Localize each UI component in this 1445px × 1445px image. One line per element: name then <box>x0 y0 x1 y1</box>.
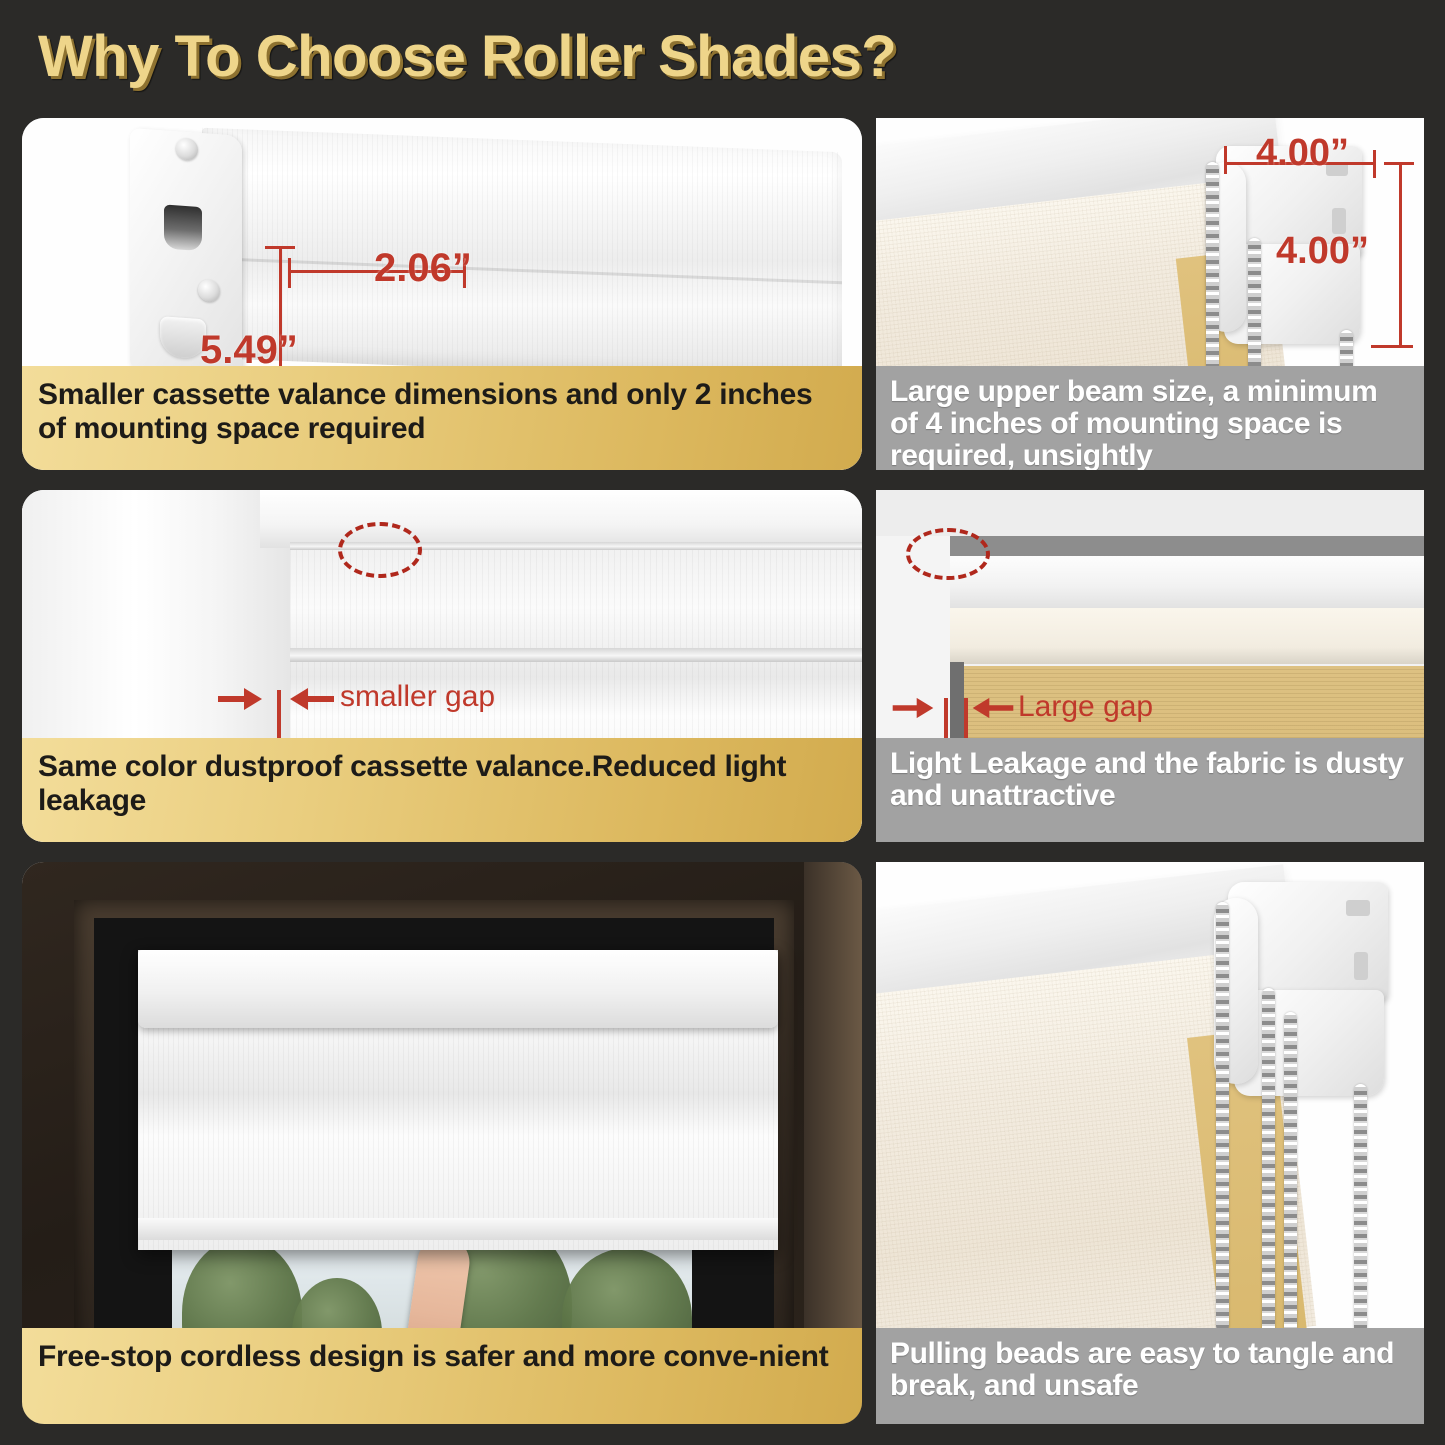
dimension-tick-top <box>265 246 295 249</box>
screw-icon <box>176 137 198 161</box>
dimension-tick-left <box>288 258 291 288</box>
highlight-ellipse-gap <box>338 522 422 578</box>
mid-rail <box>290 648 862 662</box>
arrow-right-icon <box>218 686 262 712</box>
panel-good-dustproof-valance: smaller gap Same color dustproof cassett… <box>22 490 862 842</box>
arrow-left-icon <box>972 696 1014 720</box>
dimension-label-height: 4.00” <box>1276 230 1369 273</box>
caption-good-cordless-design: Free-stop cordless design is safer and m… <box>22 1328 862 1424</box>
beam-lower-edge <box>948 608 1424 664</box>
panel-bad-pulling-beads: Pulling beads are easy to tangle and bre… <box>876 862 1424 1424</box>
upper-beam <box>948 556 1424 616</box>
caption-good-dustproof-valance: Same color dustproof cassette valance.Re… <box>22 738 862 842</box>
window-opening <box>94 918 774 1354</box>
cassette-valance-body <box>202 128 842 383</box>
bottom-bar <box>138 1218 778 1240</box>
panel-good-cordless-design: Free-stop cordless design is safer and m… <box>22 862 862 1424</box>
bead-chain <box>1216 902 1229 1332</box>
dimension-label-width: 4.00” <box>1256 132 1349 175</box>
panel-bad-light-leakage: Large gap Light Leakage and the fabric i… <box>876 490 1424 842</box>
window-frame <box>74 900 794 1370</box>
bead-chain <box>1354 1084 1367 1334</box>
dimension-tick-bottom <box>1371 345 1413 348</box>
bracket-slot <box>164 204 202 251</box>
gap-label-smaller: smaller gap <box>340 680 495 714</box>
caption-bad-light-leakage: Light Leakage and the fabric is dusty an… <box>876 738 1424 842</box>
caption-bad-large-beam: Large upper beam size, a minimum of 4 in… <box>876 366 1424 470</box>
dimension-tick-top <box>1384 162 1414 165</box>
panel-good-cassette-dimensions: 2.06” 5.49” Smaller cassette valance dim… <box>22 118 862 470</box>
arrow-left-icon <box>290 686 334 712</box>
panel-bad-large-beam: 4.00” 4.00” Large upper beam size, a min… <box>876 118 1424 470</box>
dimension-line-height <box>1399 162 1402 348</box>
caption-good-cassette-dimensions: Smaller cassette valance dimensions and … <box>22 366 862 470</box>
gap-label-large: Large gap <box>1018 690 1153 724</box>
bead-chain <box>1262 988 1275 1336</box>
dimension-label-width: 2.06” <box>374 246 472 291</box>
arrow-right-icon <box>892 696 934 720</box>
dimension-tick-right <box>1373 150 1376 178</box>
caption-bad-pulling-beads: Pulling beads are easy to tangle and bre… <box>876 1328 1424 1424</box>
screw-icon <box>198 279 220 303</box>
comparison-grid: 2.06” 5.49” Smaller cassette valance dim… <box>0 0 1445 1445</box>
cassette-valance <box>138 950 778 1028</box>
highlight-ellipse-gap <box>906 528 990 580</box>
bead-chain <box>1284 1012 1297 1334</box>
dimension-tick-left <box>1224 146 1227 174</box>
